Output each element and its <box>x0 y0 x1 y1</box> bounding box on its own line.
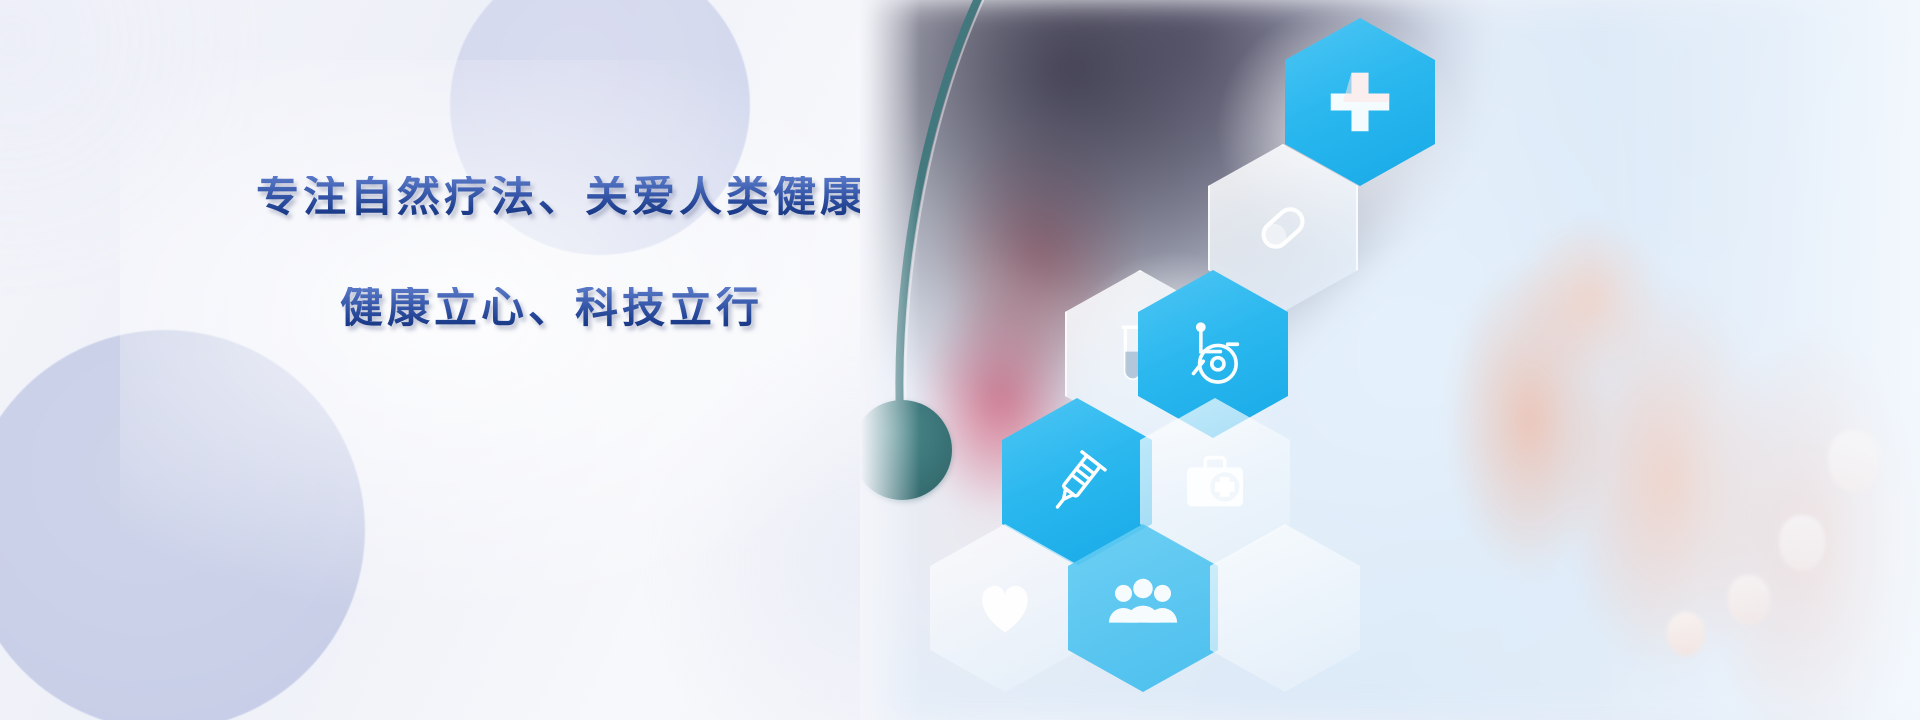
lavender-circle-bottom <box>0 330 365 720</box>
people-group-icon <box>1104 569 1182 647</box>
capsule-pill-icon <box>1244 189 1322 267</box>
headline-block: 专注自然疗法、关爱人类健康 健康立心、科技立行 <box>256 176 896 330</box>
wheelchair-icon <box>1174 315 1252 393</box>
first-aid-kit-icon <box>1176 443 1254 521</box>
hero-image-panel <box>860 0 1920 720</box>
medical-cross-icon <box>1321 63 1399 141</box>
syringe-icon <box>1038 443 1116 521</box>
medical-hexagon-cluster <box>860 0 1920 720</box>
heart-icon <box>966 569 1044 647</box>
soft-glow-top-left <box>0 0 270 300</box>
headline-line-1: 专注自然疗法、关爱人类健康 <box>256 176 896 219</box>
health-hero-banner: 专注自然疗法、关爱人类健康 健康立心、科技立行 <box>0 0 1920 720</box>
headline-line-2: 健康立心、科技立行 <box>340 287 896 330</box>
